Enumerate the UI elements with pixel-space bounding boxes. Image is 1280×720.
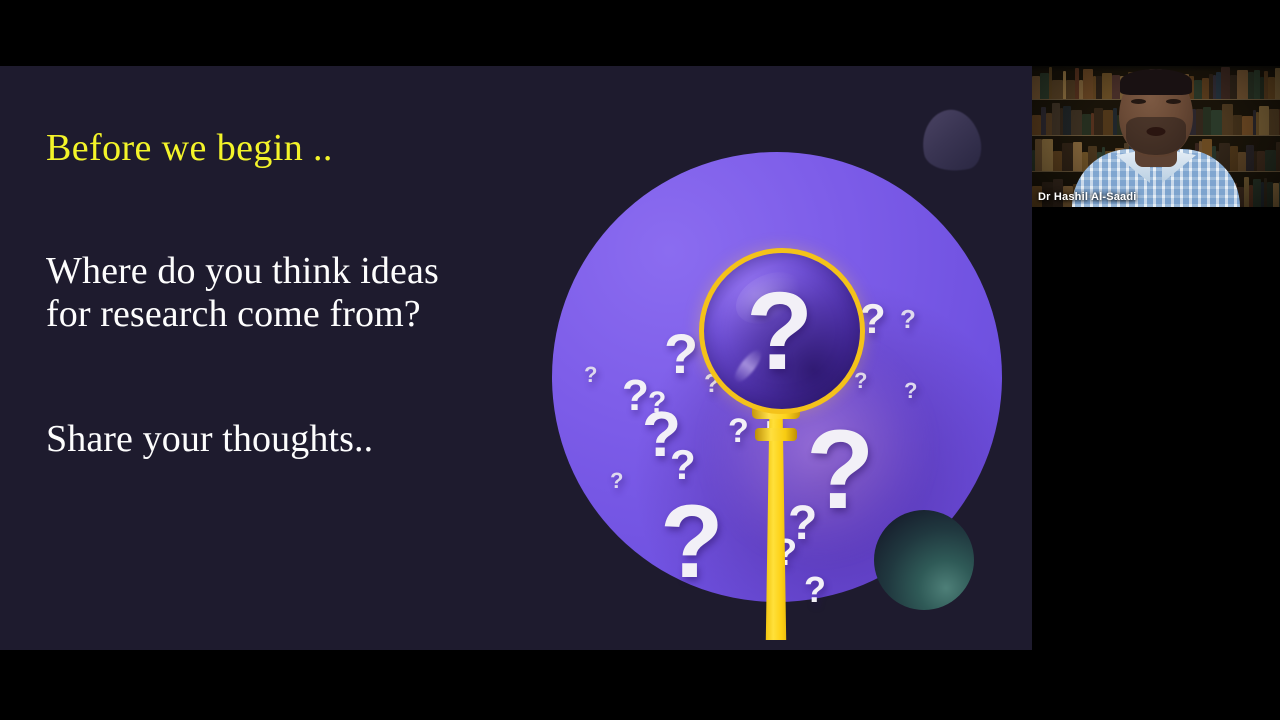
page-title: Before we begin .. <box>46 128 333 170</box>
book <box>1259 106 1269 136</box>
magnifier-lens: ? <box>699 248 865 414</box>
illustration-question-marks-magnifier: ??????????????????????? ? <box>540 66 1032 650</box>
question-mark: ? <box>904 380 917 402</box>
book <box>1052 103 1060 136</box>
teal-sphere <box>874 510 974 610</box>
book <box>1268 77 1275 100</box>
question-mark: ? <box>900 306 916 332</box>
book <box>1052 80 1063 100</box>
question-mark: ? <box>728 414 749 448</box>
video-call-screen: Before we begin .. Where do you think id… <box>0 0 1280 720</box>
question-mark: ? <box>664 326 698 382</box>
slide-text-column: Before we begin .. Where do you think id… <box>46 66 566 650</box>
participant-eye-right <box>1166 99 1181 104</box>
book <box>1063 106 1071 136</box>
book <box>1032 115 1041 136</box>
participant-mouth <box>1147 127 1166 136</box>
book <box>1053 151 1062 172</box>
slide-question-line-1: Where do you think ideas <box>46 250 516 293</box>
book <box>1257 151 1265 172</box>
slide-prompt: Share your thoughts.. <box>46 418 373 461</box>
book <box>1246 145 1254 172</box>
participant-hair <box>1120 69 1192 95</box>
book <box>1265 150 1276 172</box>
participant-name-label: Dr Hashil Al-Saadi <box>1038 191 1137 203</box>
decorative-cone-shape <box>916 105 986 178</box>
slide-question-line-2: for research come from? <box>46 293 516 336</box>
question-mark: ? <box>854 370 867 392</box>
magnifier-collar-lower <box>755 428 797 441</box>
participant-figure <box>1072 79 1240 207</box>
question-mark: ? <box>660 490 724 594</box>
book <box>1032 76 1040 100</box>
slide-question: Where do you think ideas for research co… <box>46 250 516 335</box>
participant-beard <box>1126 117 1186 155</box>
participant-video-tile[interactable]: Dr Hashil Al-Saadi <box>1032 66 1280 207</box>
magnified-question-mark: ? <box>746 277 813 387</box>
book <box>1275 68 1280 100</box>
book <box>1276 142 1280 172</box>
question-mark: ? <box>804 572 826 608</box>
book <box>1269 109 1279 136</box>
participant-eye-left <box>1131 99 1146 104</box>
book <box>1253 179 1261 207</box>
shared-slide: Before we begin .. Where do you think id… <box>0 66 1032 650</box>
question-mark: ? <box>670 444 696 486</box>
question-mark: ? <box>610 470 623 492</box>
book <box>1242 116 1253 136</box>
book <box>1035 139 1042 172</box>
book <box>1042 139 1053 172</box>
book <box>1040 73 1049 100</box>
question-mark: ? <box>584 364 597 386</box>
